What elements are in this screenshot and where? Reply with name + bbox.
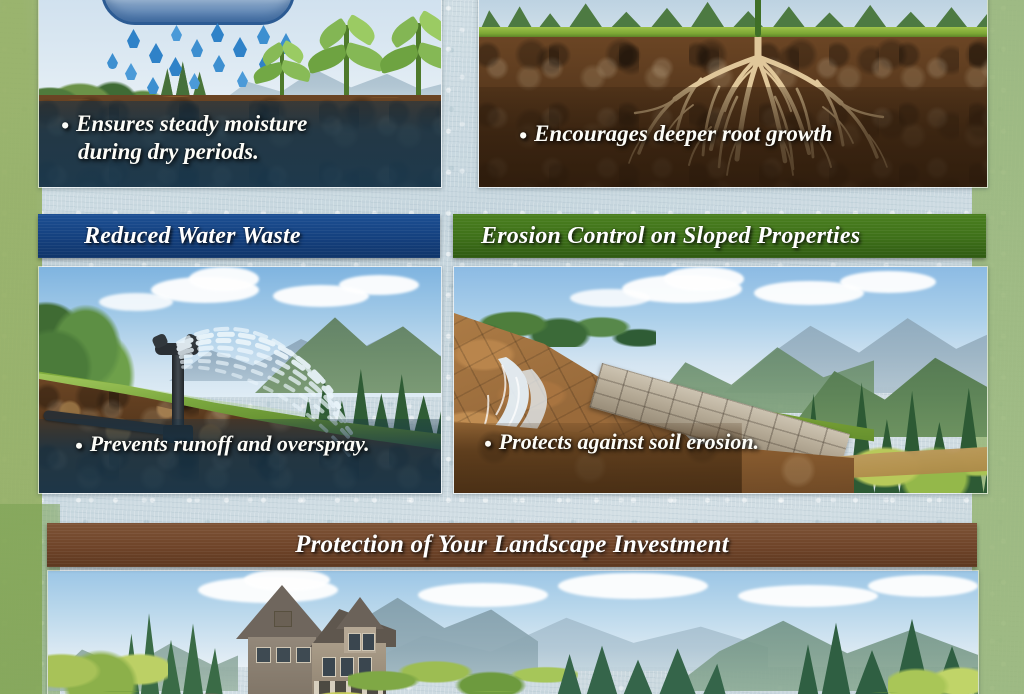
caption-line: Prevents runoff and overspray. bbox=[90, 431, 370, 456]
panel-erosion-control: •Protects against soil erosion. bbox=[453, 266, 988, 494]
scene-house-mountain-landscape bbox=[48, 571, 978, 694]
banner-title: Reduced Water Waste bbox=[38, 223, 440, 250]
caption-deeper-roots: •Encourages deeper root growth bbox=[479, 99, 987, 187]
panel-steady-moisture: •Ensures steady moisture during dry peri… bbox=[38, 0, 442, 188]
window bbox=[256, 647, 271, 663]
poster-left-margin-foliage bbox=[0, 0, 42, 694]
deciduous-trees-left bbox=[48, 623, 168, 694]
caption-line: during dry periods. bbox=[78, 139, 259, 164]
caption-line: Encourages deeper root growth bbox=[534, 121, 832, 146]
panel-reduced-water-waste: •Prevents runoff and overspray. bbox=[38, 266, 442, 494]
gable-vent-icon bbox=[274, 611, 292, 627]
banner-erosion-control: Erosion Control on Sloped Properties bbox=[453, 214, 986, 258]
cloud bbox=[558, 573, 708, 599]
window bbox=[276, 647, 291, 663]
bullet-icon: • bbox=[519, 123, 527, 149]
panel-deeper-roots: •Encourages deeper root growth bbox=[478, 0, 988, 188]
panel-landscape-investment bbox=[47, 570, 979, 694]
bullet-icon: • bbox=[61, 113, 69, 139]
cloud bbox=[738, 585, 878, 607]
foreground-foliage bbox=[48, 685, 978, 694]
banner-title: Erosion Control on Sloped Properties bbox=[453, 223, 986, 250]
banner-title: Protection of Your Landscape Investment bbox=[47, 531, 977, 559]
caption-erosion-control: •Protects against soil erosion. bbox=[454, 411, 987, 493]
caption-line: Ensures steady moisture bbox=[76, 111, 307, 136]
cloud bbox=[418, 583, 548, 607]
banner-reduced-water-waste: Reduced Water Waste bbox=[38, 214, 440, 258]
bullet-icon: • bbox=[484, 432, 492, 457]
infographic-poster: •Ensures steady moisture during dry peri… bbox=[0, 0, 1024, 694]
seedling-with-leaves bbox=[703, 0, 813, 41]
banner-landscape-investment: Protection of Your Landscape Investment bbox=[47, 523, 977, 567]
cloud bbox=[868, 575, 978, 597]
caption-reduced-water-waste: •Prevents runoff and overspray. bbox=[39, 413, 441, 493]
window bbox=[296, 647, 311, 663]
caption-steady-moisture: •Ensures steady moisture during dry peri… bbox=[39, 95, 441, 187]
bullet-icon: • bbox=[75, 434, 83, 459]
caption-line: Protects against soil erosion. bbox=[499, 429, 759, 454]
